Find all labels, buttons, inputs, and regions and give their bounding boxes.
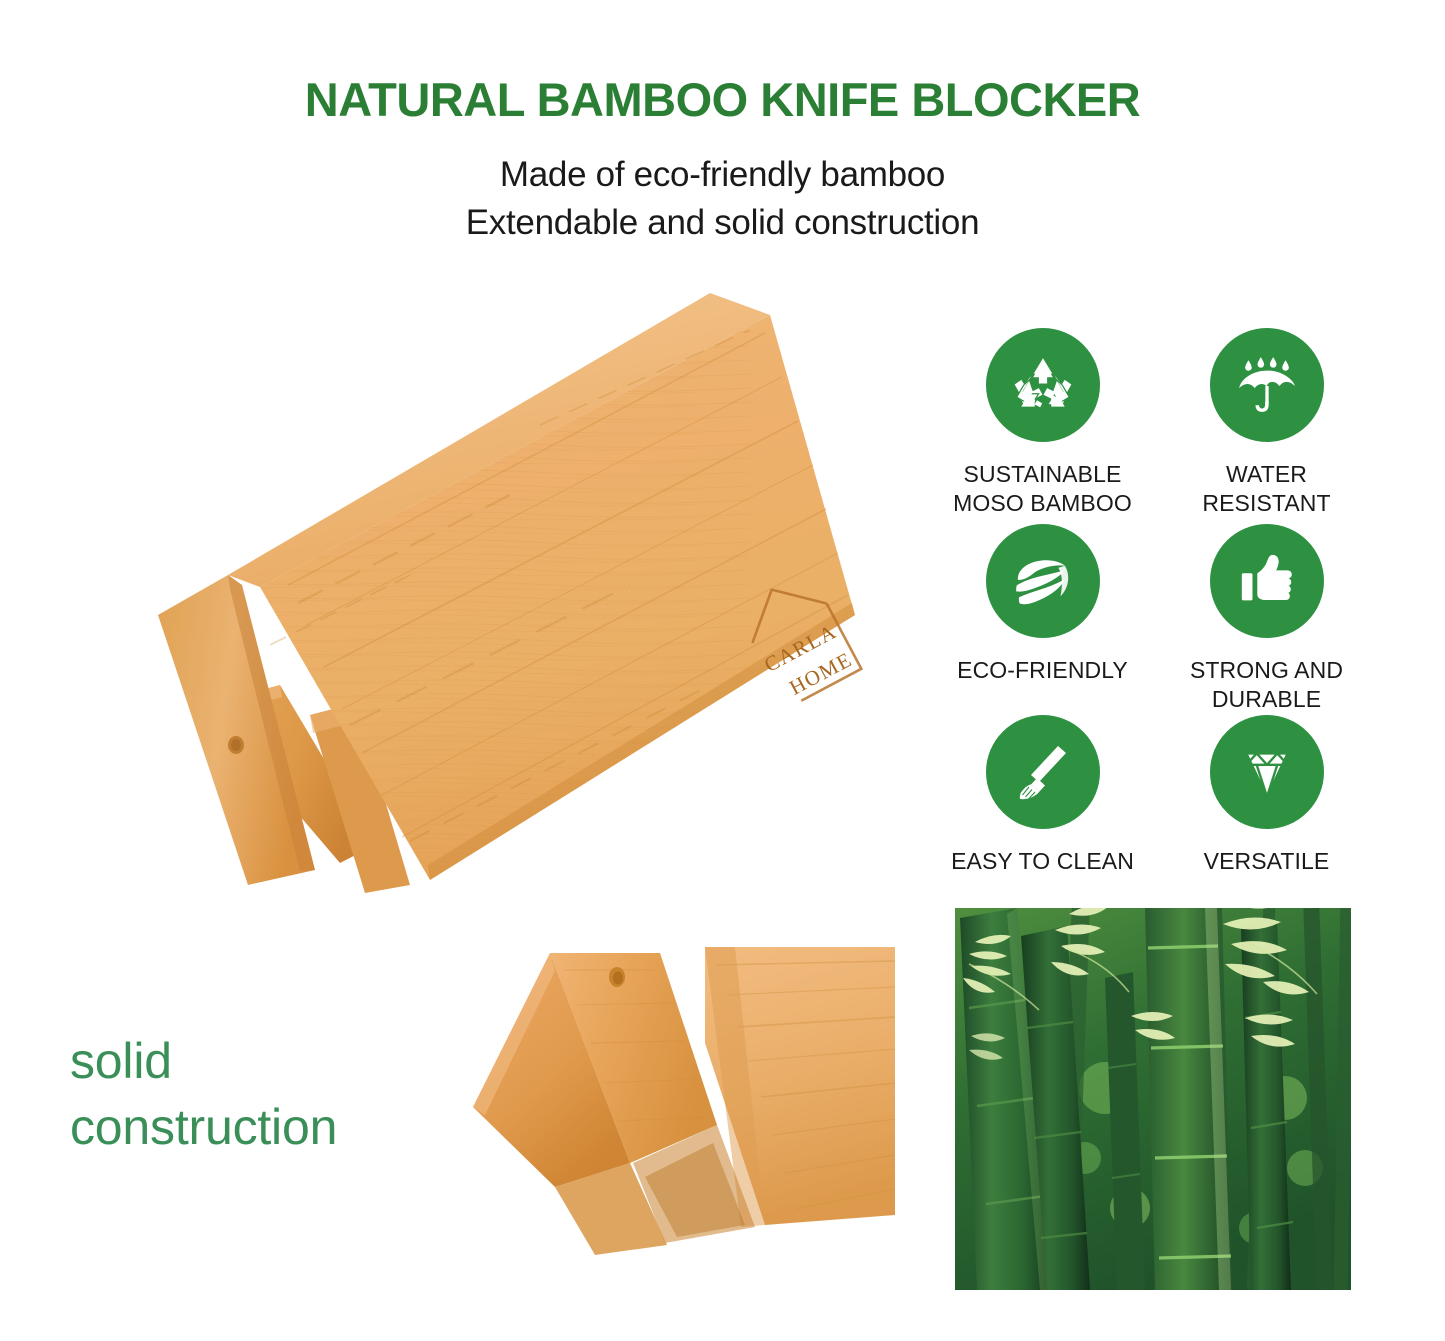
feature-badge [986, 715, 1100, 829]
bamboo-forest-photo [955, 908, 1351, 1290]
feature-badge [986, 524, 1100, 638]
broom-icon [1011, 740, 1075, 804]
feature-item-easy-to-clean: EASY TO CLEAN [935, 715, 1150, 876]
feature-grid: SUSTAINABLE MOSO BAMBOO [935, 328, 1365, 893]
feature-item-sustainable: SUSTAINABLE MOSO BAMBOO [935, 328, 1150, 518]
subtitle-line-1: Made of eco-friendly bamboo [0, 155, 1445, 195]
feature-label: VERSATILE [1159, 847, 1374, 876]
stand-detail-image [455, 925, 895, 1285]
diamond-icon [1234, 739, 1300, 805]
page-title: NATURAL BAMBOO KNIFE BLOCKER [0, 72, 1445, 127]
umbrella-icon [1234, 352, 1300, 418]
subtitle-line-2: Extendable and solid construction [0, 203, 1445, 243]
feature-label: WATER RESISTANT [1159, 460, 1374, 518]
screw-head [228, 736, 244, 754]
leaf-icon [1008, 546, 1078, 616]
feature-item-water-resistant: WATER RESISTANT [1159, 328, 1374, 518]
solid-construction-caption: solid construction [70, 1028, 470, 1160]
recycle-icon [1010, 352, 1076, 418]
feature-item-eco-friendly: ECO-FRIENDLY [935, 524, 1150, 685]
feature-label: ECO-FRIENDLY [935, 656, 1150, 685]
feature-badge [1210, 328, 1324, 442]
feature-badge [1210, 715, 1324, 829]
thumbs-up-icon [1236, 550, 1298, 612]
feature-item-strong-durable: STRONG AND DURABLE [1159, 524, 1374, 714]
feature-badge [1210, 524, 1324, 638]
product-hero-image: CARLA HOME [110, 285, 900, 895]
feature-label: EASY TO CLEAN [935, 847, 1150, 876]
feature-label: SUSTAINABLE MOSO BAMBOO [935, 460, 1150, 518]
feature-item-versatile: VERSATILE [1159, 715, 1374, 876]
product-infographic: NATURAL BAMBOO KNIFE BLOCKER Made of eco… [0, 0, 1445, 1341]
feature-label: STRONG AND DURABLE [1159, 656, 1374, 714]
feature-badge [986, 328, 1100, 442]
